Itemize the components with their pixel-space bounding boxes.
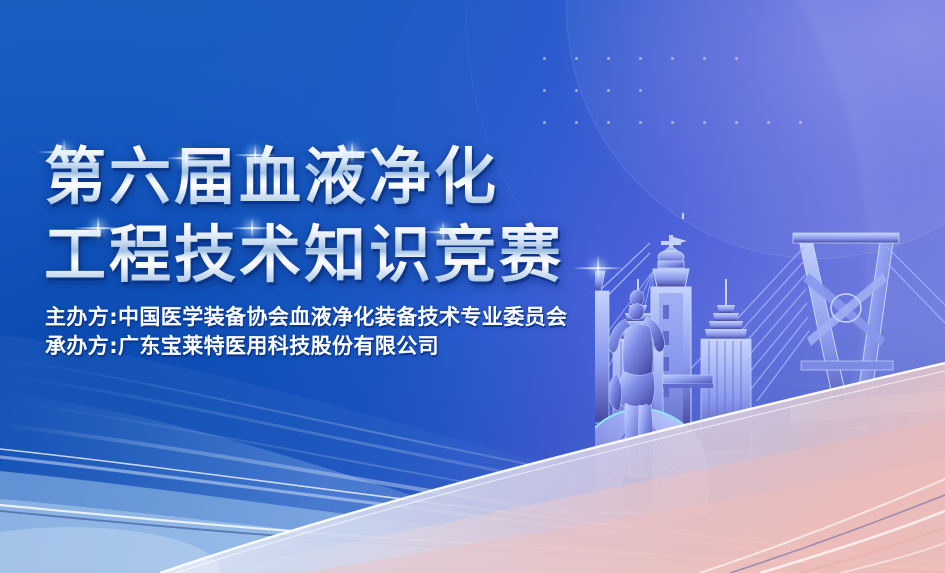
event-banner: 第六届血液净化 工程技术知识竞赛 主办方:中国医学装备协会血液净化装备技术专业委… bbox=[0, 0, 945, 573]
co-organizer-line: 承办方:广东宝莱特医用科技股份有限公司 bbox=[45, 332, 567, 361]
banner-title: 第六届血液净化 工程技术知识竞赛 bbox=[44, 140, 564, 292]
title-line-1: 第六届血液净化 bbox=[44, 140, 564, 214]
light-ribbon-decoration bbox=[0, 243, 945, 573]
dot-grid-row bbox=[543, 57, 831, 89]
dot-grid-row bbox=[543, 121, 831, 153]
dot-grid-decoration bbox=[543, 57, 831, 153]
dot-grid-row bbox=[543, 89, 831, 121]
banner-subtitle: 主办方:中国医学装备协会血液净化装备技术专业委员会 承办方:广东宝莱特医用科技股… bbox=[45, 303, 567, 361]
title-line-2: 工程技术知识竞赛 bbox=[44, 218, 564, 292]
organizer-line: 主办方:中国医学装备协会血液净化装备技术专业委员会 bbox=[45, 303, 567, 332]
